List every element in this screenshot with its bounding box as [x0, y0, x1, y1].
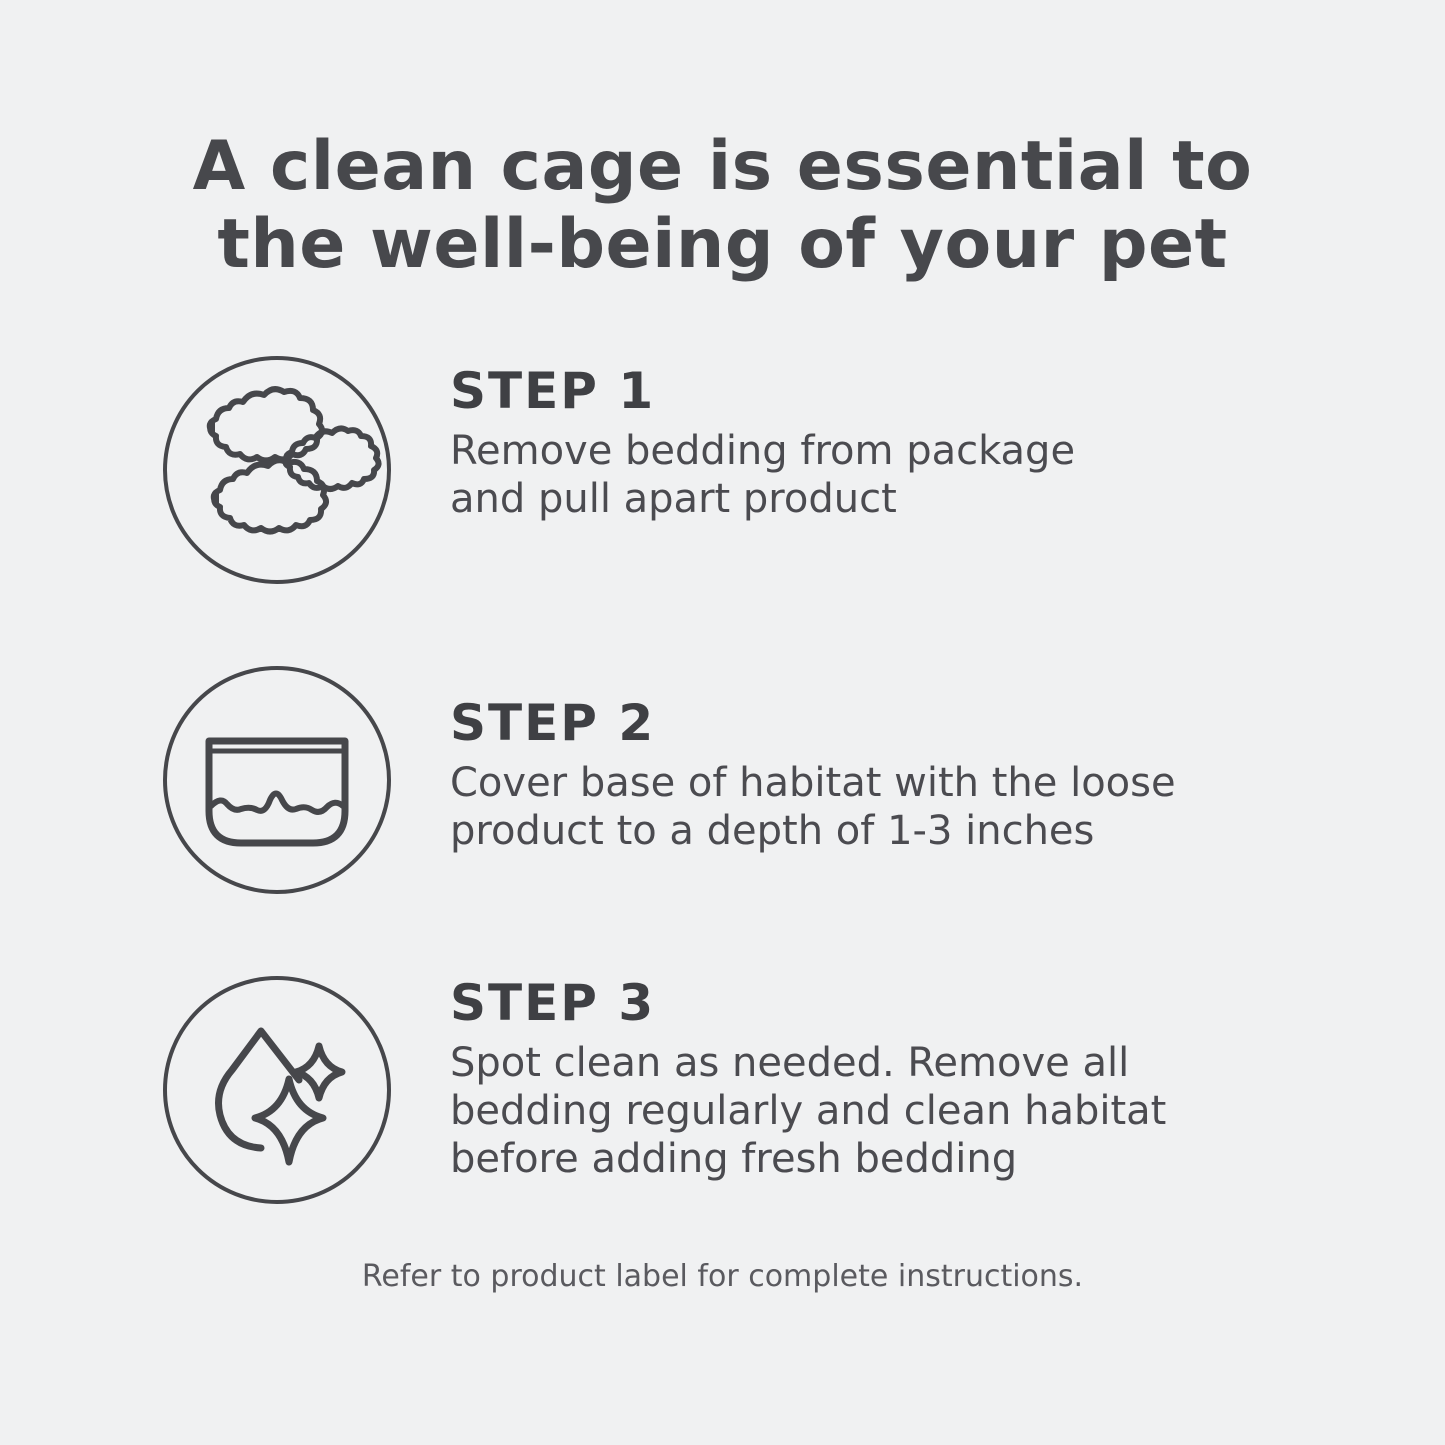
- step-item-2: STEP 2 Cover base of habitat with the lo…: [0, 655, 1445, 905]
- bedding-clouds-icon: [160, 353, 394, 587]
- step-3-body-line-2: bedding regularly and clean habitat: [450, 1087, 1330, 1135]
- step-3-title: STEP 3: [450, 975, 1330, 1031]
- step-1-body-line-2: and pull apart product: [450, 475, 1330, 523]
- page-title: A clean cage is essential to the well-be…: [120, 128, 1325, 284]
- step-3-body: Spot clean as needed. Remove all bedding…: [450, 1039, 1330, 1183]
- habitat-base-icon: [160, 663, 394, 897]
- step-1-body-line-1: Remove bedding from package: [450, 427, 1330, 475]
- infographic-page: A clean cage is essential to the well-be…: [0, 0, 1445, 1445]
- step-1-title: STEP 1: [450, 363, 1330, 419]
- steps-list: STEP 1 Remove bedding from package and p…: [0, 345, 1445, 1275]
- step-2-body-line-1: Cover base of habitat with the loose: [450, 759, 1330, 807]
- step-item-3: STEP 3 Spot clean as needed. Remove all …: [0, 965, 1445, 1215]
- footer-note: Refer to product label for complete inst…: [120, 1258, 1325, 1296]
- step-1-text: STEP 1 Remove bedding from package and p…: [450, 363, 1330, 523]
- step-3-body-line-1: Spot clean as needed. Remove all: [450, 1039, 1330, 1087]
- step-2-text: STEP 2 Cover base of habitat with the lo…: [450, 695, 1330, 855]
- step-3-body-line-3: before adding fresh bedding: [450, 1135, 1330, 1183]
- step-3-text: STEP 3 Spot clean as needed. Remove all …: [450, 975, 1330, 1183]
- headline-line-2: the well-being of your pet: [120, 206, 1325, 284]
- step-2-title: STEP 2: [450, 695, 1330, 751]
- step-2-body: Cover base of habitat with the loose pro…: [450, 759, 1330, 855]
- step-1-body: Remove bedding from package and pull apa…: [450, 427, 1330, 523]
- droplet-sparkle-icon: [160, 973, 394, 1207]
- step-2-body-line-2: product to a depth of 1-3 inches: [450, 807, 1330, 855]
- headline-line-1: A clean cage is essential to: [120, 128, 1325, 206]
- step-item-1: STEP 1 Remove bedding from package and p…: [0, 345, 1445, 595]
